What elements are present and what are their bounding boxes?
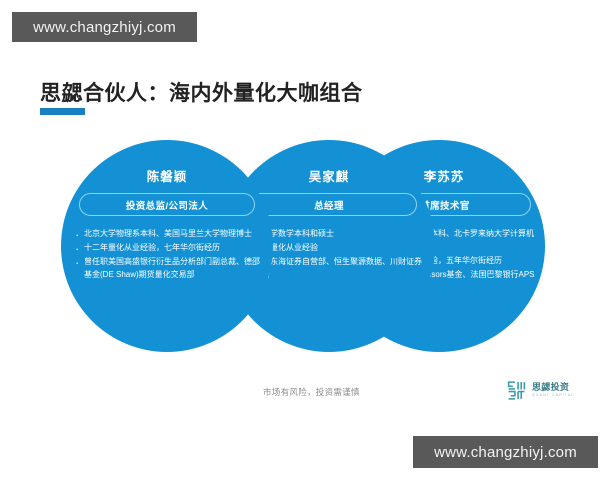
logo-chinese-name: 思勰投资 [532,383,575,392]
logo-text-block: 思勰投资 QUANT CAPITAL [532,383,575,398]
partner-circles-group: 陈磐颖 投资总监/公司法人 北京大学物理系本科、美国马里兰大学物理博士 十二年量… [0,140,600,355]
disclaimer-text: 市场有风险，投资需谨慎 [263,386,360,398]
list-item: 北京大学物理系本科、美国马里兰大学物理博士 [73,228,265,241]
title-accent-bar [40,108,85,115]
partner-circle-1[interactable]: 陈磐颖 投资总监/公司法人 北京大学物理系本科、美国马里兰大学物理博士 十二年量… [61,140,273,352]
company-logo: 思勰投资 QUANT CAPITAL [506,380,575,401]
partner-bullets-1: 北京大学物理系本科、美国马里兰大学物理博士 十二年量化从业经验，七年华尔街经历 … [73,228,265,283]
watermark-top: www.changzhiyj.com [12,12,197,42]
partner-circle-1-content: 陈磐颖 投资总监/公司法人 北京大学物理系本科、美国马里兰大学物理博士 十二年量… [61,140,273,352]
partner-role-badge-1: 投资总监/公司法人 [79,193,255,216]
logo-english-name: QUANT CAPITAL [532,394,575,398]
list-item: 十二年量化从业经验，七年华尔街经历 [73,242,265,255]
watermark-bottom: www.changzhiyj.com [413,436,598,468]
partner-name-1: 陈磐颖 [61,166,273,185]
list-item: 曾任职美国高盛银行衍生品分析部门副总裁、德邵基金(DE Shaw)期货量化交易部 [73,256,265,282]
quant-capital-logo-icon [506,380,527,401]
slide-canvas: 思勰合伙人：海内外量化大咖组合 陈磐颖 投资总监/公司法人 北京大学物理系本科、… [0,0,600,480]
title-block: 思勰合伙人：海内外量化大咖组合 [40,82,363,115]
page-title: 思勰合伙人：海内外量化大咖组合 [40,82,363,105]
